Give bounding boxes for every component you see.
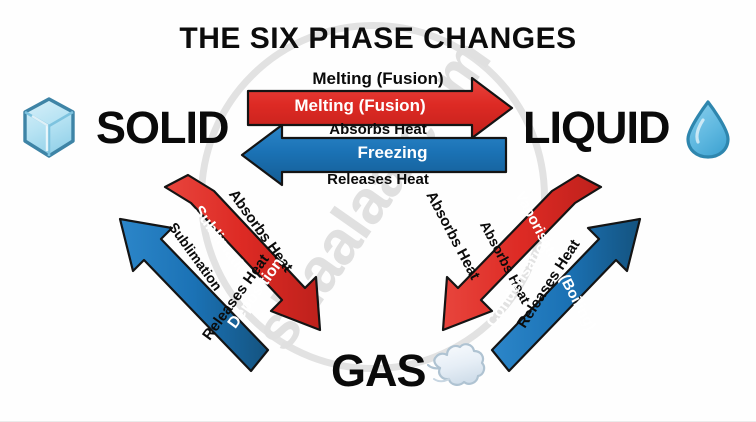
page-title: THE SIX PHASE CHANGES bbox=[0, 22, 756, 56]
label-freezing-inner: Freezing bbox=[280, 144, 505, 161]
phase-label-solid: SOLID bbox=[96, 102, 229, 154]
water-drop-icon bbox=[684, 98, 732, 165]
label-melting-outer: Melting (Fusion) bbox=[0, 70, 756, 87]
phase-label-gas: GAS bbox=[331, 345, 426, 397]
phase-change-diagram: shaalaa.com THE SIX PHASE CHANGES bbox=[0, 0, 756, 422]
label-freezing-heat: Releases Heat bbox=[0, 172, 756, 187]
ice-cube-icon bbox=[18, 96, 80, 165]
phase-label-liquid: LIQUID bbox=[523, 102, 670, 154]
label-melting-inner: Melting (Fusion) bbox=[248, 97, 472, 114]
steam-cloud-icon bbox=[427, 341, 489, 398]
